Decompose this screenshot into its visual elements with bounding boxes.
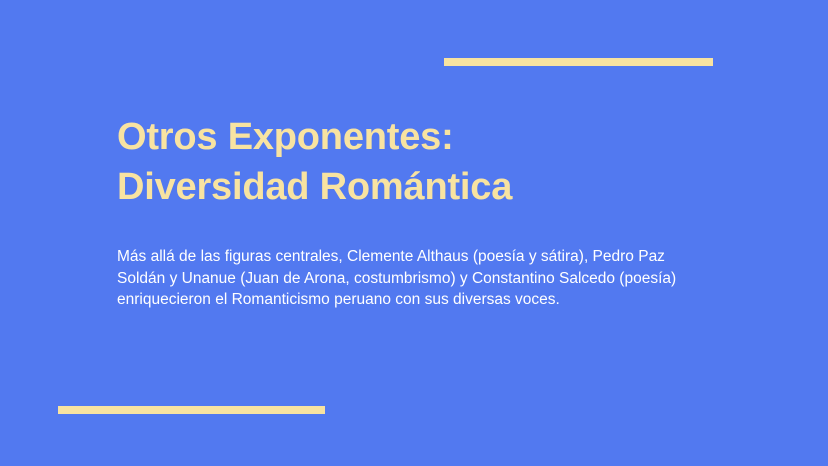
slide-body-text: Más allá de las figuras centrales, Cleme… <box>117 212 700 311</box>
slide-title: Otros Exponentes: Diversidad Romántica <box>117 112 647 212</box>
accent-bar-bottom-left <box>58 406 325 414</box>
accent-bar-top-right <box>444 58 713 66</box>
presentation-slide: Otros Exponentes: Diversidad Romántica M… <box>0 0 828 466</box>
slide-content: Otros Exponentes: Diversidad Romántica M… <box>117 112 707 311</box>
